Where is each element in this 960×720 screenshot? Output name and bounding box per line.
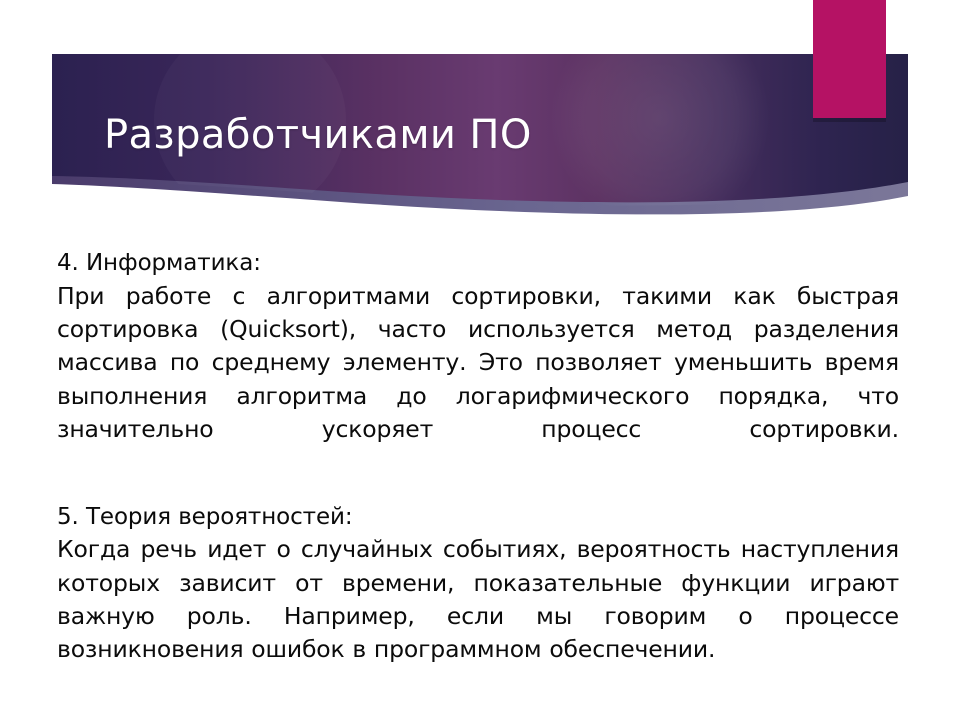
slide-body: 4. Информатика: При работе с алгоритмами… xyxy=(57,248,899,667)
slide-canvas: Разработчиками ПО 4. Информатика: При ра… xyxy=(0,0,960,720)
slide-title: Разработчиками ПО xyxy=(104,104,804,166)
block-heading-informatics: 4. Информатика: xyxy=(57,248,899,279)
magenta-accent-bar-shadow xyxy=(813,118,886,122)
slide-header-banner: Разработчиками ПО xyxy=(0,0,960,220)
block-paragraph-informatics: При работе с алгоритмами сортировки, так… xyxy=(57,280,899,480)
magenta-accent-bar xyxy=(813,0,886,118)
block-heading-probability: 5. Теория вероятностей: xyxy=(57,502,899,533)
content-block-informatics: 4. Информатика: При работе с алгоритмами… xyxy=(57,248,899,480)
content-block-probability: 5. Теория вероятностей: Когда речь идет … xyxy=(57,502,899,667)
block-paragraph-probability: Когда речь идет о случайных событиях, ве… xyxy=(57,533,899,666)
